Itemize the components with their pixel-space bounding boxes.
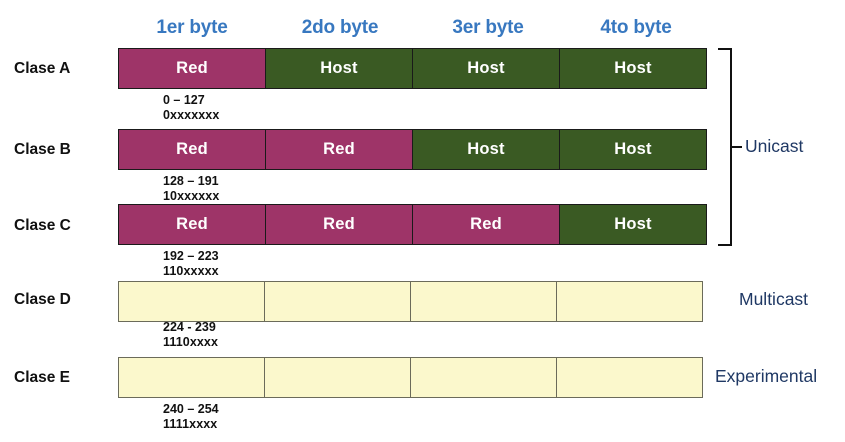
cell-c-3: Red: [412, 204, 560, 245]
cell-b-1: Red: [118, 129, 266, 170]
cell-e-1: [118, 357, 265, 398]
range-annotation-a: 0 – 127 0xxxxxxx: [163, 93, 219, 123]
class-row-c: Red Red Red Host: [118, 204, 710, 245]
class-label-b: Clase B: [14, 141, 118, 159]
range-bits-c: 110xxxxx: [163, 264, 219, 279]
cell-d-2: [264, 281, 411, 322]
cell-a-4: Host: [559, 48, 707, 89]
side-label-multicast: Multicast: [739, 289, 808, 310]
cell-e-2: [264, 357, 411, 398]
cell-b-4: Host: [559, 129, 707, 170]
cell-a-2: Host: [265, 48, 413, 89]
cell-b-3: Host: [412, 129, 560, 170]
side-label-experimental: Experimental: [715, 366, 817, 387]
range-bits-e: 1111xxxx: [163, 417, 219, 432]
class-label-c: Clase C: [14, 217, 118, 235]
cell-a-3: Host: [412, 48, 560, 89]
range-value-b: 128 – 191: [163, 174, 219, 188]
range-annotation-b: 128 – 191 10xxxxxx: [163, 174, 219, 204]
cell-b-2: Red: [265, 129, 413, 170]
ip-address-classes-diagram: 1er byte 2do byte 3er byte 4to byte Clas…: [0, 0, 845, 442]
class-label-e: Clase E: [14, 369, 118, 387]
unicast-group-bracket: [718, 48, 732, 246]
byte-header-3: 3er byte: [414, 17, 562, 39]
range-bits-d: 1110xxxx: [163, 335, 218, 350]
range-value-d: 224 - 239: [163, 320, 216, 334]
range-annotation-e: 240 – 254 1111xxxx: [163, 402, 219, 432]
range-value-a: 0 – 127: [163, 93, 205, 107]
cell-c-1: Red: [118, 204, 266, 245]
byte-header-4: 4to byte: [562, 17, 710, 39]
unicast-bracket-tick: [731, 146, 742, 148]
cell-d-1: [118, 281, 265, 322]
cell-c-4: Host: [559, 204, 707, 245]
range-annotation-c: 192 – 223 110xxxxx: [163, 249, 219, 279]
class-row-e: [118, 357, 706, 398]
class-row-b: Red Red Host Host: [118, 129, 710, 170]
cell-c-2: Red: [265, 204, 413, 245]
class-row-a: Red Host Host Host: [118, 48, 710, 89]
range-value-e: 240 – 254: [163, 402, 219, 416]
cell-e-4: [556, 357, 703, 398]
class-label-d: Clase D: [14, 291, 118, 309]
cell-a-1: Red: [118, 48, 266, 89]
range-bits-b: 10xxxxxx: [163, 189, 219, 204]
range-annotation-d: 224 - 239 1110xxxx: [163, 320, 218, 350]
cell-e-3: [410, 357, 557, 398]
byte-header-1: 1er byte: [118, 17, 266, 39]
class-row-d: [118, 281, 706, 322]
cell-d-3: [410, 281, 557, 322]
range-value-c: 192 – 223: [163, 249, 219, 263]
side-label-unicast: Unicast: [745, 136, 803, 157]
byte-header-2: 2do byte: [266, 17, 414, 39]
cell-d-4: [556, 281, 703, 322]
class-label-a: Clase A: [14, 60, 118, 78]
range-bits-a: 0xxxxxxx: [163, 108, 219, 123]
